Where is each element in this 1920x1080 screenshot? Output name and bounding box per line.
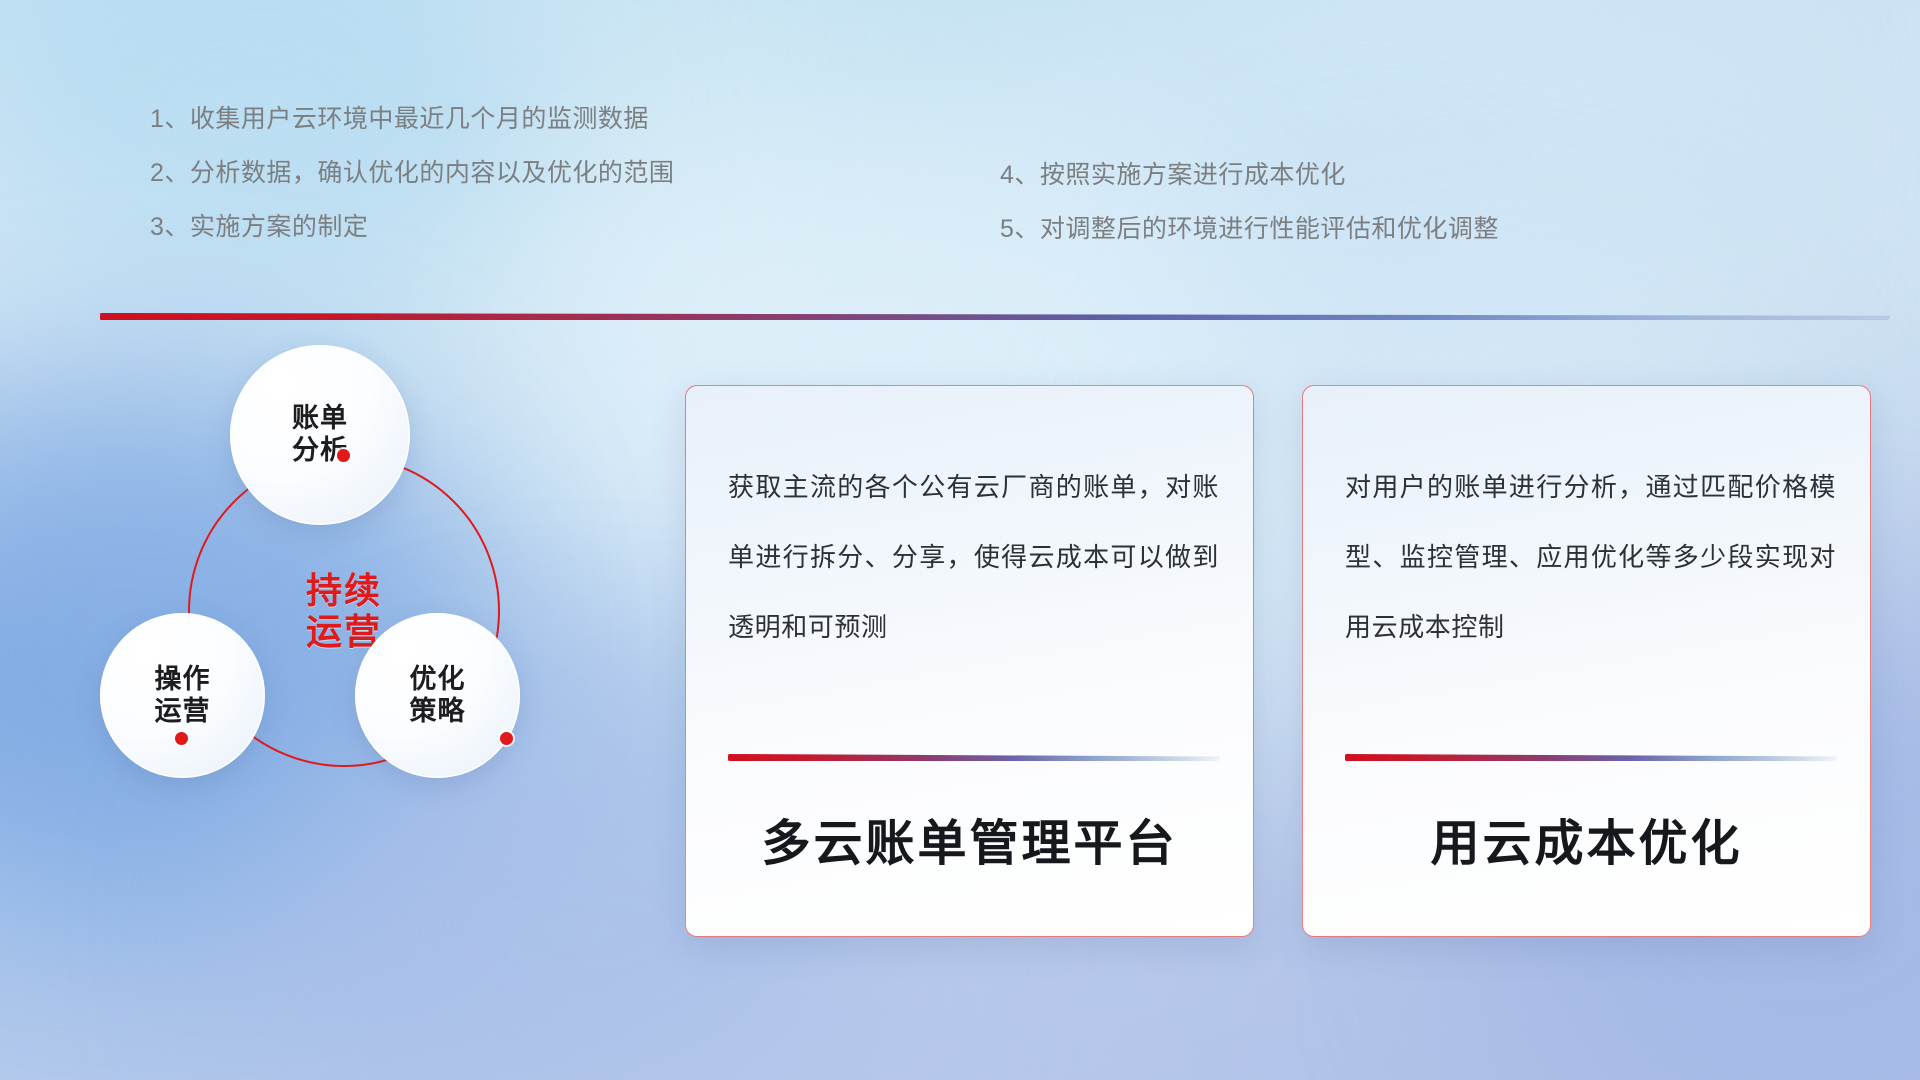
card-title: 多云账单管理平台 xyxy=(686,804,1253,875)
diagram-connector-dot xyxy=(337,449,350,462)
step-item: 1、收集用户云环境中最近几个月的监测数据 xyxy=(150,92,674,146)
card-description: 对用户的账单进行分析，通过匹配价格模型、监控管理、应用优化等多少段实现对用云成本… xyxy=(1345,452,1836,662)
diagram-connector-dot xyxy=(175,732,188,745)
card-accent-rule xyxy=(728,754,1220,761)
diagram-connector-dot xyxy=(500,732,513,745)
node-label-line2: 策略 xyxy=(410,696,466,726)
feature-card-multicloud-billing[interactable]: 获取主流的各个公有云厂商的账单，对账单进行拆分、分享，使得云成本可以做到透明和可… xyxy=(685,385,1254,937)
diagram-node-bill-analysis[interactable]: 账单 分析 xyxy=(230,345,410,525)
step-item: 3、实施方案的制定 xyxy=(150,200,674,254)
card-accent-rule xyxy=(1345,754,1837,761)
step-item: 5、对调整后的环境进行性能评估和优化调整 xyxy=(1000,202,1499,256)
card-description: 获取主流的各个公有云厂商的账单，对账单进行拆分、分享，使得云成本可以做到透明和可… xyxy=(728,452,1219,662)
steps-list-left: 1、收集用户云环境中最近几个月的监测数据 2、分析数据，确认优化的内容以及优化的… xyxy=(150,92,674,254)
card-title: 用云成本优化 xyxy=(1303,804,1870,875)
diagram-node-operations[interactable]: 操作 运营 xyxy=(100,613,265,778)
feature-card-cloud-cost-optimization[interactable]: 对用户的账单进行分析，通过匹配价格模型、监控管理、应用优化等多少段实现对用云成本… xyxy=(1302,385,1871,937)
node-label-line1: 账单 xyxy=(292,403,348,433)
node-label-line2: 运营 xyxy=(155,696,211,726)
node-label-line1: 操作 xyxy=(155,664,211,694)
node-label-line1: 优化 xyxy=(410,664,466,694)
section-divider-rule xyxy=(100,313,1890,320)
diagram-node-optimization-strategy[interactable]: 优化 策略 xyxy=(355,613,520,778)
hub-label-line1: 持续 xyxy=(306,570,382,611)
step-item: 4、按照实施方案进行成本优化 xyxy=(1000,148,1499,202)
continuous-operation-diagram: 持续 运营 账单 分析 操作 运营 优化 策略 xyxy=(100,355,550,955)
step-item: 2、分析数据，确认优化的内容以及优化的范围 xyxy=(150,146,674,200)
slide-canvas: 1、收集用户云环境中最近几个月的监测数据 2、分析数据，确认优化的内容以及优化的… xyxy=(0,0,1920,1080)
steps-list-right: 4、按照实施方案进行成本优化 5、对调整后的环境进行性能评估和优化调整 xyxy=(1000,148,1499,256)
